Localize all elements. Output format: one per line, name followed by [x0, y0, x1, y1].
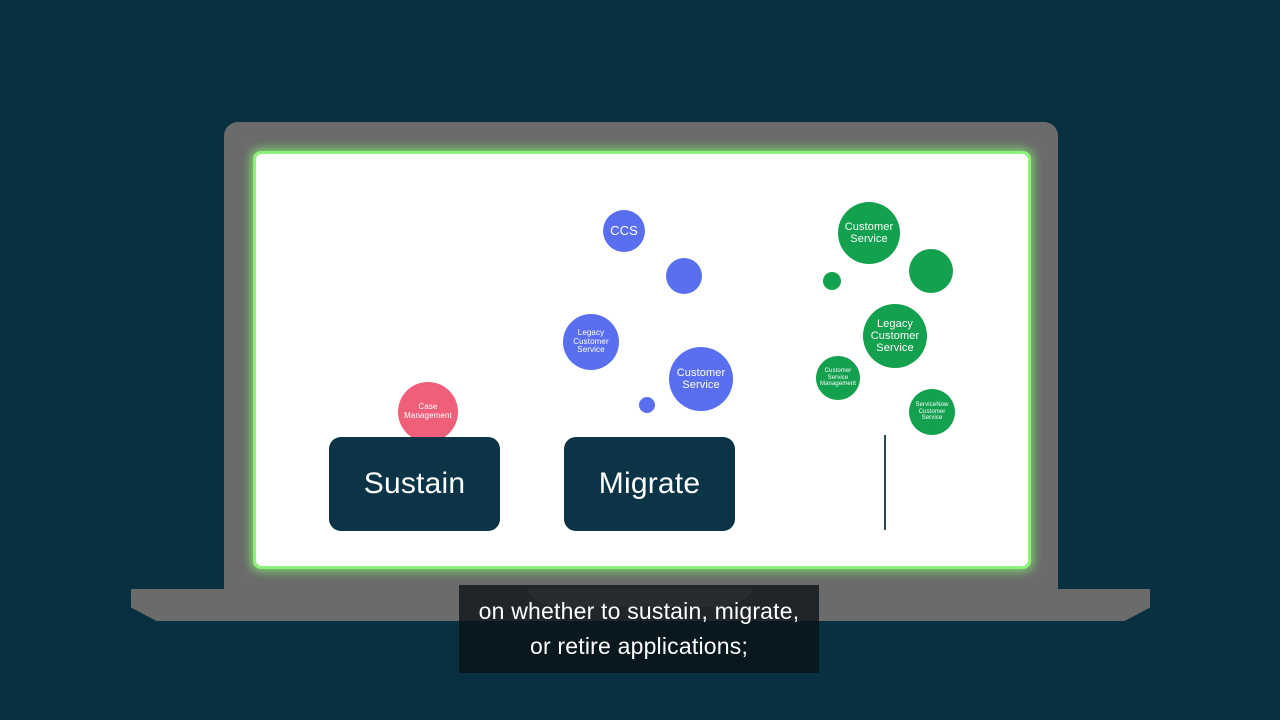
bubble-label: Legacy Customer Service	[871, 318, 919, 355]
bubble-label: Customer Service Management	[820, 368, 856, 388]
decision-box-label: Sustain	[364, 467, 465, 501]
bubble-label: Case Management	[404, 403, 452, 421]
bubble-case-management[interactable]: Case Management	[398, 382, 458, 442]
bubble-legacy-cs-green[interactable]: Legacy Customer Service	[863, 304, 927, 368]
laptop-screen: CCSLegacy Customer ServiceCustomer Servi…	[256, 154, 1028, 566]
bubble-legacy-cs-blue[interactable]: Legacy Customer Service	[563, 314, 619, 370]
bubble-csm-green[interactable]: Customer Service Management	[816, 356, 860, 400]
bubble-label: Customer Service	[677, 367, 725, 392]
caption-overlay: on whether to sustain, migrate, or retir…	[459, 585, 819, 673]
bubble-label: ServiceNow Customer Service	[915, 402, 948, 422]
bubble-label: Customer Service	[845, 221, 893, 246]
caption-line-1: on whether to sustain, migrate,	[479, 597, 800, 626]
bubble-customer-service-blue[interactable]: Customer Service	[669, 347, 733, 411]
bubble-servicenow-cs[interactable]: ServiceNow Customer Service	[909, 389, 955, 435]
decision-box-retire[interactable]	[884, 435, 886, 530]
bubble-ccs[interactable]: CCS	[603, 210, 645, 252]
bubble-blue-plain-2[interactable]	[639, 397, 655, 413]
bubble-blue-plain-1[interactable]	[666, 258, 702, 294]
decision-box-migrate[interactable]: Migrate	[564, 437, 735, 531]
bubble-green-plain-2[interactable]	[823, 272, 841, 290]
decision-box-sustain[interactable]: Sustain	[329, 437, 500, 531]
bubble-label: Legacy Customer Service	[573, 329, 608, 356]
decision-box-label: Migrate	[599, 467, 700, 501]
caption-line-2: or retire applications;	[530, 632, 748, 661]
bubble-green-plain-1[interactable]	[909, 249, 953, 293]
slide-stage: CCSLegacy Customer ServiceCustomer Servi…	[0, 0, 1280, 720]
bubble-customer-service-green[interactable]: Customer Service	[838, 202, 900, 264]
bubble-label: CCS	[610, 224, 638, 239]
